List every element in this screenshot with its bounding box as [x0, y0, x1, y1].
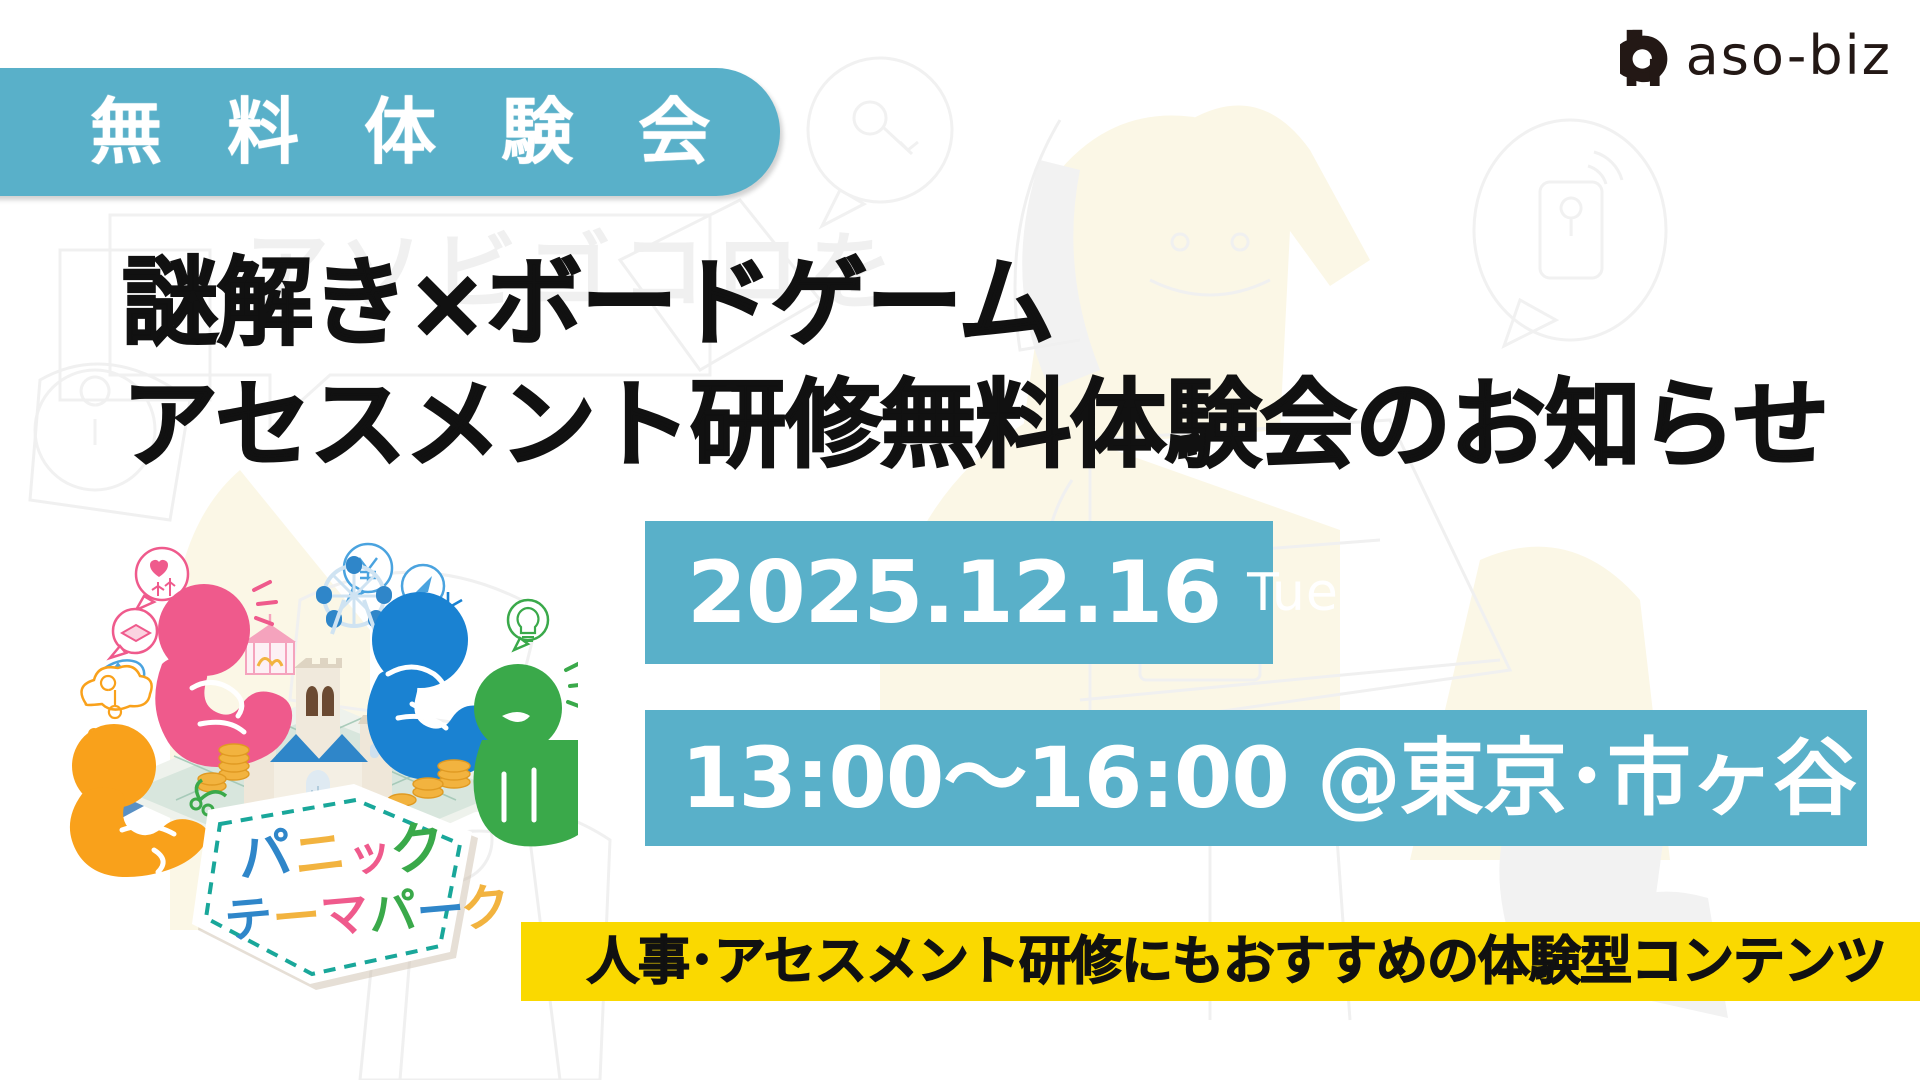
product-illustration: パ ニ ッ ク テ ー マ パ ー ク — [58, 538, 578, 1008]
svg-text:マ: マ — [318, 885, 371, 945]
event-time-venue-box: 13:00〜16:00 @東京･市ヶ谷 — [645, 710, 1867, 846]
svg-text:テ: テ — [222, 890, 275, 950]
svg-text:ク: ク — [386, 814, 450, 885]
panic-theme-park-artwork: パ ニ ッ ク テ ー マ パ ー ク — [58, 538, 578, 1008]
svg-text:パ: パ — [234, 821, 295, 890]
headline-line-2: アセスメント研修無料体験会のお知らせ — [122, 374, 1882, 478]
svg-text:ク: ク — [458, 877, 513, 939]
free-trial-badge-label: 無 料 体 験 会 — [90, 96, 730, 168]
headline-line-1: 謎解き×ボードゲーム — [122, 252, 1882, 356]
brand-logo-text: aso-biz — [1686, 29, 1892, 83]
page-title: 謎解き×ボードゲーム アセスメント研修無料体験会のお知らせ — [122, 252, 1882, 477]
poster-canvas: アソビゴコロを aso-biz 無 料 体 験 会 謎解き×ボードゲーム アセス… — [0, 0, 1920, 1080]
event-time-venue-value: 13:00〜16:00 @東京･市ヶ谷 — [681, 736, 1856, 820]
svg-text:パ: パ — [366, 883, 419, 943]
player-figure-green — [473, 664, 578, 846]
event-date-value: 2025.12.16 — [687, 550, 1221, 636]
tagline-ribbon-text: 人事･アセスメント研修にもおすすめの体験型コンテンツ — [587, 936, 1886, 988]
aso-biz-a-mark-icon — [1620, 26, 1676, 86]
tagline-ribbon: 人事･アセスメント研修にもおすすめの体験型コンテンツ — [521, 922, 1920, 1001]
brand-logo: aso-biz — [1620, 24, 1892, 88]
free-trial-badge: 無 料 体 験 会 — [0, 68, 780, 196]
svg-text:ニ: ニ — [290, 822, 349, 888]
event-day-of-week: Tue — [1247, 567, 1339, 619]
svg-text:ー: ー — [270, 888, 323, 948]
event-date-box: 2025.12.16 Tue — [645, 521, 1273, 664]
